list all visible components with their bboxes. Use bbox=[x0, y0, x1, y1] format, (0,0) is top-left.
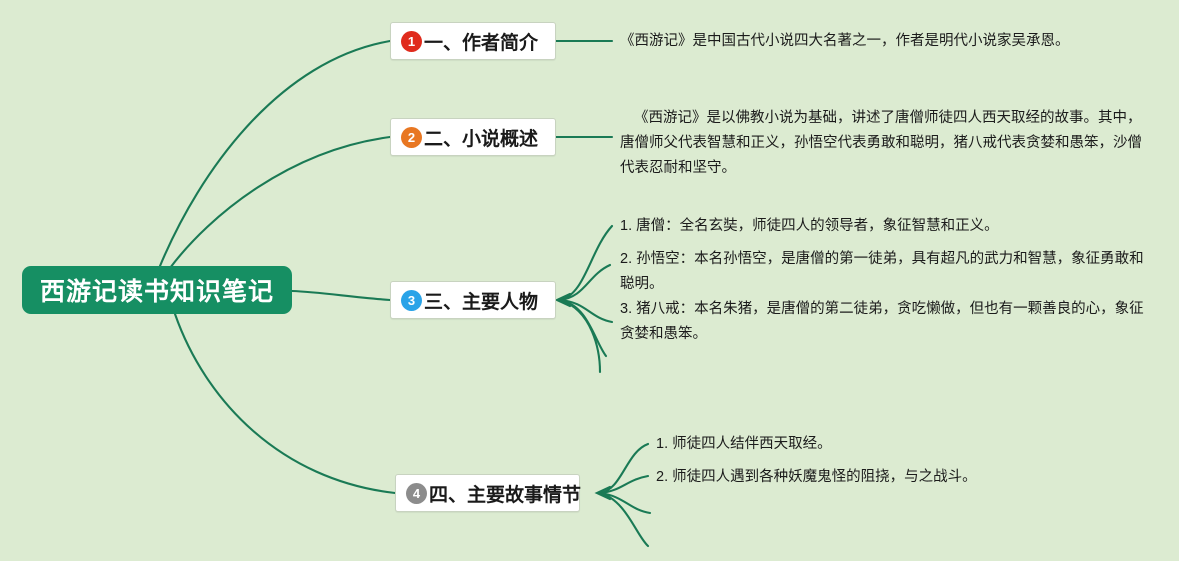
leaf-text-3-1: 1. 唐僧：全名玄奘，师徒四人的领导者，象征智慧和正义。 bbox=[620, 214, 1140, 239]
branch-4-label: 四、主要故事情节 bbox=[429, 480, 581, 507]
leaf-text-2-1: 《西游记》是以佛教小说为基础，讲述了唐僧师徒四人西天取经的故事。其中，唐僧师父代… bbox=[620, 106, 1142, 181]
branch-1-number-badge: 1 bbox=[401, 31, 422, 52]
connector-branch-3-leaf-2 bbox=[560, 265, 610, 300]
connector-root-to-branch-1 bbox=[160, 41, 390, 266]
branch-3-number-badge: 3 bbox=[401, 290, 422, 311]
connector-branch-3-leaf-3 bbox=[560, 300, 612, 322]
connector-branch-4-leaf-3 bbox=[600, 493, 650, 513]
branch-node-4[interactable]: 4 四、主要故事情节 bbox=[395, 474, 580, 512]
leaf-text-1-1: 《西游记》是中国古代小说四大名著之一，作者是明代小说家吴承恩。 bbox=[620, 29, 1140, 54]
branch-node-2[interactable]: 2 二、小说概述 bbox=[390, 118, 556, 156]
root-node[interactable]: 西游记读书知识笔记 bbox=[22, 266, 292, 314]
branch-2-label: 二、小说概述 bbox=[424, 124, 538, 151]
branch-4-number-badge: 4 bbox=[406, 483, 427, 504]
leaf-text-3-2: 2. 孙悟空：本名孙悟空，是唐僧的第一徒弟，具有超凡的武力和智慧，象征勇敢和聪明… bbox=[620, 247, 1144, 297]
connector-branch-3-leaf-5 bbox=[560, 300, 600, 372]
leaf-text-4-1: 1. 师徒四人结伴西天取经。 bbox=[656, 432, 1116, 457]
connector-branch-3-leaf-4 bbox=[560, 300, 606, 356]
branch-2-number-badge: 2 bbox=[401, 127, 422, 148]
connector-branch-3-arrow bbox=[557, 294, 570, 306]
branch-node-1[interactable]: 1 一、作者简介 bbox=[390, 22, 556, 60]
leaf-text-3-3: 3. 猪八戒：本名朱猪，是唐僧的第二徒弟，贪吃懒做，但也有一颗善良的心，象征贪婪… bbox=[620, 297, 1144, 347]
connector-branch-4-leaf-2 bbox=[600, 476, 648, 493]
connector-branch-3-leaf-1 bbox=[560, 226, 612, 300]
root-node-label: 西游记读书知识笔记 bbox=[40, 272, 274, 308]
connector-branch-4-arrow bbox=[597, 487, 610, 499]
mindmap-canvas: 西游记读书知识笔记 1 一、作者简介 《西游记》是中国古代小说四大名著之一，作者… bbox=[0, 0, 1179, 561]
branch-node-3[interactable]: 3 三、主要人物 bbox=[390, 281, 556, 319]
connector-root-to-branch-4 bbox=[175, 314, 395, 493]
connector-root-to-branch-2 bbox=[170, 137, 390, 268]
branch-3-label: 三、主要人物 bbox=[424, 287, 538, 314]
connector-root-to-branch-3 bbox=[292, 291, 390, 300]
connector-branch-4-leaf-1 bbox=[600, 444, 648, 493]
leaf-text-4-2: 2. 师徒四人遇到各种妖魔鬼怪的阻挠，与之战斗。 bbox=[656, 465, 1116, 490]
connector-branch-4-leaf-4 bbox=[600, 493, 648, 546]
branch-1-label: 一、作者简介 bbox=[424, 28, 538, 55]
